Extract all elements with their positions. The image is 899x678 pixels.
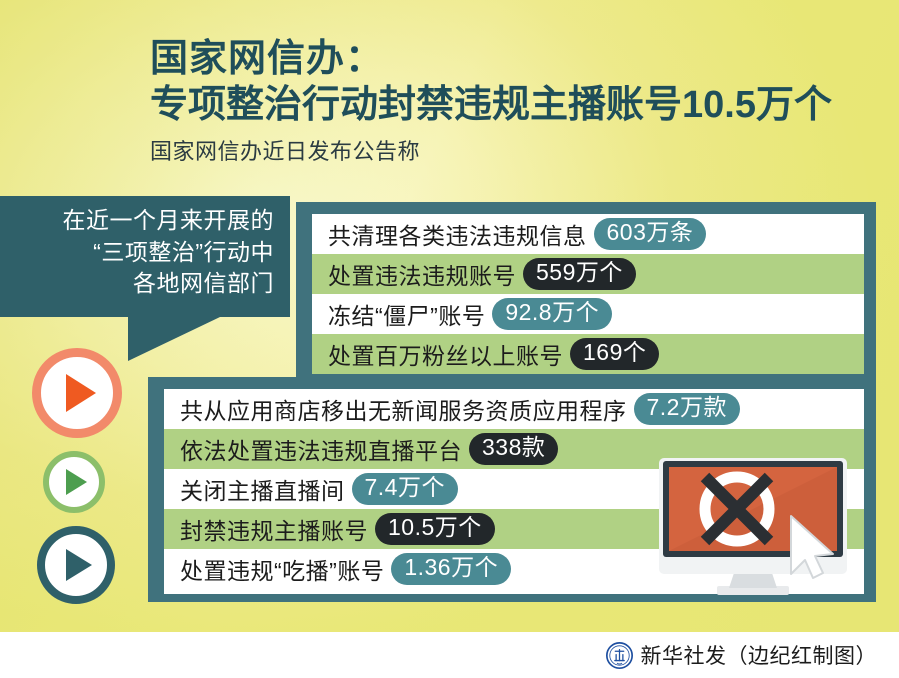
callout-line-2: “三项整治”行动中 <box>63 237 275 269</box>
headline-block: 国家网信办： 专项整治行动封禁违规主播账号10.5万个 国家网信办近日发布公告称 <box>150 38 885 166</box>
status-badge: 559万个 <box>523 258 636 290</box>
status-badge: 10.5万个 <box>375 513 495 545</box>
data-panel-top: 共清理各类违法违规信息 603万条 处置违法违规账号 559万个 冻结“僵尸”账… <box>296 202 876 378</box>
monitor-blocked-icon <box>655 452 851 602</box>
row-label: 共从应用商店移出无新闻服务资质应用程序 <box>180 392 627 426</box>
row-label: 处置违法违规账号 <box>328 257 516 291</box>
status-badge: 7.2万款 <box>634 393 740 425</box>
play-button-stack <box>32 348 122 604</box>
play-button-green[interactable] <box>43 451 105 513</box>
monitor-blocked-illustration <box>655 452 851 602</box>
status-badge: 7.4万个 <box>352 473 458 505</box>
status-badge: 92.8万个 <box>492 298 612 330</box>
callout-box: 在近一个月来开展的 “三项整治”行动中 各地网信部门 <box>0 196 290 317</box>
table-row: 处置百万粉丝以上账号 169个 <box>312 334 864 374</box>
row-label: 关闭主播直播间 <box>180 472 345 506</box>
table-row: 共从应用商店移出无新闻服务资质应用程序 7.2万款 <box>164 389 864 429</box>
infographic-poster: 国家网信办： 专项整治行动封禁违规主播账号10.5万个 国家网信办近日发布公告称… <box>0 0 899 678</box>
headline-line-1: 国家网信办： <box>150 38 885 82</box>
play-icon <box>66 549 92 581</box>
data-panel-top-rows: 共清理各类违法违规信息 603万条 处置违法违规账号 559万个 冻结“僵尸”账… <box>312 214 864 374</box>
table-row: 处置违法违规账号 559万个 <box>312 254 864 294</box>
status-badge: 338款 <box>469 433 558 465</box>
row-label: 依法处置违法违规直播平台 <box>180 432 462 466</box>
callout-tail <box>128 317 220 361</box>
callout-line-1: 在近一个月来开展的 <box>63 205 275 237</box>
row-label: 处置百万粉丝以上账号 <box>328 337 563 371</box>
row-label: 共清理各类违法违规信息 <box>328 217 587 251</box>
table-row: 共清理各类违法违规信息 603万条 <box>312 214 864 254</box>
table-row: 冻结“僵尸”账号 92.8万个 <box>312 294 864 334</box>
xinhua-seal-icon <box>606 642 633 669</box>
footer-bar: 新华社发（边纪红制图） <box>0 632 899 678</box>
row-label: 冻结“僵尸”账号 <box>328 297 485 331</box>
callout-line-3: 各地网信部门 <box>63 268 275 300</box>
callout-text: 在近一个月来开展的 “三项整治”行动中 各地网信部门 <box>63 205 275 300</box>
status-badge: 169个 <box>570 338 659 370</box>
play-icon <box>66 374 96 412</box>
credit-block: 新华社发（边纪红制图） <box>606 640 878 670</box>
status-badge: 1.36万个 <box>391 553 511 585</box>
row-label: 封禁违规主播账号 <box>180 512 368 546</box>
play-button-orange[interactable] <box>32 348 122 438</box>
row-label: 处置违规“吃播”账号 <box>180 552 384 586</box>
status-badge: 603万条 <box>594 218 707 250</box>
play-button-teal[interactable] <box>37 526 115 604</box>
play-icon <box>66 469 87 495</box>
credit-text: 新华社发（边纪红制图） <box>641 640 878 670</box>
headline-subtitle: 国家网信办近日发布公告称 <box>150 134 885 166</box>
headline-line-2: 专项整治行动封禁违规主播账号10.5万个 <box>150 82 885 128</box>
